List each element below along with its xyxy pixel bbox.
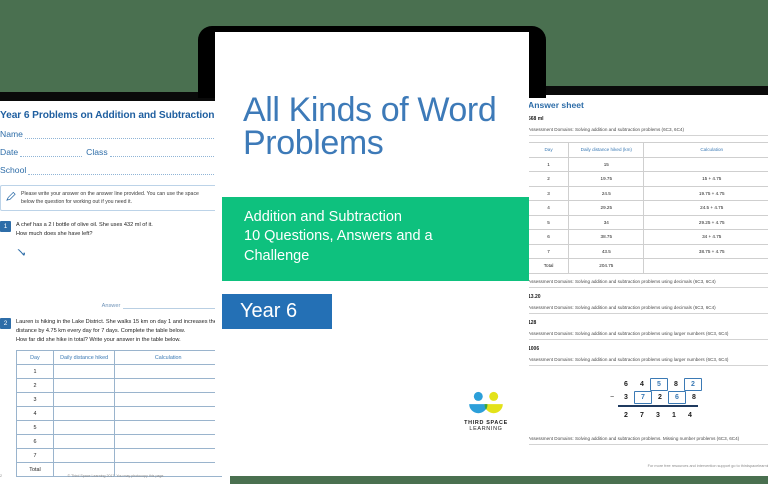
answer-write-line[interactable] [123, 302, 222, 309]
cover-title: All Kinds of Word Problems [243, 94, 519, 159]
table-row: 115 [529, 157, 768, 172]
cell-distance: 34 [569, 215, 644, 230]
tick-icon: ✓ [15, 245, 28, 262]
table-header-row: Day Daily distance hiked Calculation [17, 351, 222, 365]
cover-title-line1: All Kinds of Word [243, 94, 519, 127]
row-calculation-input[interactable] [115, 379, 222, 393]
cell-total-distance: 204.75 [569, 259, 644, 274]
row-calculation-input[interactable] [115, 435, 222, 449]
two-people-logo-icon [465, 390, 507, 414]
school-field-label: School [0, 165, 26, 175]
cover-subtitle-line3: Challenge [244, 247, 521, 266]
worksheet-top-bar [0, 92, 230, 101]
cell-distance: 24.5 [569, 186, 644, 201]
subtrahend-digit-5: 8 [686, 394, 702, 401]
row-distance-input[interactable] [53, 449, 115, 463]
row-day: 5 [17, 421, 54, 435]
date-class-field-row: Date Class [0, 147, 222, 157]
minuend-digit-5-boxed: 2 [684, 378, 702, 391]
header-calculation: Calculation [115, 351, 222, 365]
question-2-number: 2 [0, 318, 11, 329]
cell-day: 1 [529, 157, 569, 172]
cell-calculation: 24.5 + 4.75 [644, 201, 768, 216]
cell-calculation: 15 + 4.75 [644, 172, 768, 187]
question-1-answer-line[interactable]: Answer [0, 302, 222, 309]
divider [528, 287, 768, 288]
school-field-row: School [0, 165, 222, 175]
question-1-number: 1 [0, 221, 11, 232]
cover-document: All Kinds of Word Problems Addition and … [215, 32, 529, 476]
class-field-line[interactable] [110, 148, 222, 157]
cell-distance: 43.5 [569, 244, 644, 259]
question-2: 2 Lauren is hiking in the Lake District.… [0, 318, 222, 344]
minuend-row: 6 4 5 8 2 [606, 378, 702, 391]
third-space-learning-logo: THIRD SPACE LEARNING [450, 390, 522, 432]
result-digit-4: 1 [666, 412, 682, 419]
table-row: 2 [17, 379, 222, 393]
table-row: 6 [17, 435, 222, 449]
cell-day: 5 [529, 215, 569, 230]
assessment-domain-2: Assessment Domains: Solving addition and… [528, 279, 768, 284]
subtrahend-row: − 3 7 2 6 8 [606, 391, 702, 404]
name-field-row: Name [0, 129, 222, 139]
cell-distance: 15 [569, 157, 644, 172]
cover-title-line2: Problems [243, 127, 519, 160]
instruction-note-line1: Please write your answer on the answer l… [21, 190, 217, 198]
table-row: 638.7534 + 4.75 [529, 230, 768, 245]
date-field-label: Date [0, 147, 18, 157]
cell-calculation: 19.75 + 4.75 [644, 186, 768, 201]
table-row: 7 [17, 449, 222, 463]
name-field-label: Name [0, 129, 23, 139]
worksheet-title: Year 6 Problems on Addition and Subtract… [0, 110, 222, 121]
divider [528, 135, 768, 136]
assessment-domain-3: Assessment Domains: Solving addition and… [528, 305, 768, 310]
row-day: 1 [17, 365, 54, 379]
answer-hike-table: Day Daily distance hiked (km) Calculatio… [528, 142, 768, 274]
assessment-domain-4: Assessment Domains: Solving addition and… [528, 331, 768, 336]
logo-text-line2: LEARNING [450, 426, 522, 432]
answer-sheet-title: Answer sheet [528, 100, 768, 110]
row-calculation-input[interactable] [115, 407, 222, 421]
minuend-digit-2: 4 [634, 381, 650, 388]
worksheet-hike-table: Day Daily distance hiked Calculation 1 2… [16, 350, 222, 477]
worksheet-document: Year 6 Problems on Addition and Subtract… [0, 92, 230, 484]
cover-subtitle-band: Addition and Subtraction 10 Questions, A… [222, 197, 529, 281]
table-row: Total204.75 [529, 259, 768, 274]
table-row: 429.2524.5 + 4.75 [529, 201, 768, 216]
school-field-line[interactable] [28, 166, 222, 175]
answer-4-value: 1006 [528, 346, 768, 352]
cell-total-calculation [644, 259, 768, 274]
cell-calculation: 34 + 4.75 [644, 230, 768, 245]
row-distance-input[interactable] [53, 407, 115, 421]
sum-rule [618, 405, 698, 407]
column-subtraction: 6 4 5 8 2 − 3 7 2 6 8 [528, 378, 768, 422]
year-badge: Year 6 [222, 294, 332, 329]
question-1-line2: How much does she have left? [16, 230, 153, 239]
answer-sheet-top-bar [528, 86, 768, 95]
row-calculation-input[interactable] [115, 393, 222, 407]
table-row: 1 [17, 365, 222, 379]
row-distance-input[interactable] [53, 379, 115, 393]
answer-2-value: 13.20 [528, 294, 768, 300]
cell-distance: 19.75 [569, 172, 644, 187]
cell-day: 6 [529, 230, 569, 245]
row-day: 4 [17, 407, 54, 421]
cell-total-label: Total [529, 259, 569, 274]
cell-calculation: 29.25 + 4.75 [644, 215, 768, 230]
row-calculation-input[interactable] [115, 365, 222, 379]
answer-3-value: 128 [528, 320, 768, 326]
question-2-line1: Lauren is hiking in the Lake District. S… [16, 318, 217, 327]
row-calculation-input[interactable] [115, 421, 222, 435]
divider [528, 444, 768, 445]
divider [528, 313, 768, 314]
cell-calculation [644, 157, 768, 172]
subtrahend-digit-3: 2 [652, 394, 668, 401]
table-row: 3 [17, 393, 222, 407]
name-field-line[interactable] [25, 130, 222, 139]
table-row: 53429.25 + 4.75 [529, 215, 768, 230]
question-1: 1 A chef has a 2 l bottle of olive oil. … [0, 221, 222, 238]
table-row: 4 [17, 407, 222, 421]
row-day: 7 [17, 449, 54, 463]
row-calculation-input[interactable] [115, 449, 222, 463]
divider [528, 339, 768, 340]
result-digit-3: 3 [650, 412, 666, 419]
table-row: 5 [17, 421, 222, 435]
subtrahend-digit-1: 3 [618, 394, 634, 401]
minuend-digit-3-boxed: 5 [650, 378, 668, 391]
cover-subtitle-line1: Addition and Subtraction [244, 208, 521, 227]
header-day: Day [17, 351, 54, 365]
instruction-note-line2: below the question for working out if yo… [21, 198, 217, 206]
result-digit-1: 2 [618, 412, 634, 419]
cell-day: 4 [529, 201, 569, 216]
divider [528, 365, 768, 366]
date-field-line[interactable] [20, 148, 82, 157]
worksheet-page-number: 2 [0, 474, 10, 478]
minuend-digit-1: 6 [618, 381, 634, 388]
screenshot-stage: Year 6 Problems on Addition and Subtract… [0, 0, 768, 476]
cell-calculation: 38.75 + 4.75 [644, 244, 768, 259]
cell-day: 2 [529, 172, 569, 187]
class-field-label: Class [86, 147, 108, 157]
table-row: 219.7515 + 4.75 [529, 172, 768, 187]
result-digit-5: 4 [682, 412, 698, 419]
worksheet-copyright: © Third Space Learning 2017. You may pho… [10, 474, 222, 478]
answer-label: Answer [102, 303, 121, 309]
answer-1-value: 568 ml [528, 116, 768, 122]
header-day: Day [529, 143, 569, 158]
row-distance-input[interactable] [53, 421, 115, 435]
cover-subtitle-line2: 10 Questions, Answers and a [244, 227, 521, 246]
row-distance-input[interactable] [53, 365, 115, 379]
table-row: 743.538.75 + 4.75 [529, 244, 768, 259]
table-row: 324.519.75 + 4.75 [529, 186, 768, 201]
subtrahend-digit-2-boxed: 7 [634, 391, 652, 404]
result-row: 2 7 3 1 4 [606, 409, 702, 422]
cell-distance: 38.75 [569, 230, 644, 245]
subtrahend-digit-4-boxed: 6 [668, 391, 686, 404]
minus-operator: − [606, 394, 618, 401]
question-2-line2: distance by 4.75 km every day for 7 days… [16, 327, 217, 336]
result-digit-2: 7 [634, 412, 650, 419]
year-badge-label: Year 6 [240, 300, 297, 323]
cover-subtitle: Addition and Subtraction 10 Questions, A… [244, 208, 521, 266]
assessment-domain-1: Assessment Domains: Solving addition and… [528, 127, 768, 132]
cell-day: 3 [529, 186, 569, 201]
minuend-digit-4: 8 [668, 381, 684, 388]
row-day: 3 [17, 393, 54, 407]
row-distance-input[interactable] [53, 393, 115, 407]
table-header-row: Day Daily distance hiked (km) Calculatio… [529, 143, 768, 158]
cell-day: 7 [529, 244, 569, 259]
row-day: 6 [17, 435, 54, 449]
answer-sheet-footer: For more free resources and intervention… [648, 464, 768, 468]
question-2-line3: How far did she hike in total? Write you… [16, 336, 217, 345]
instruction-note: Please write your answer on the answer l… [0, 185, 222, 211]
worksheet-footer: 2 © Third Space Learning 2017. You may p… [0, 474, 222, 478]
question-1-line1: A chef has a 2 l bottle of olive oil. Sh… [16, 221, 153, 230]
pencil-icon [5, 191, 17, 202]
row-day: 2 [17, 379, 54, 393]
header-distance: Daily distance hiked (km) [569, 143, 644, 158]
row-distance-input[interactable] [53, 435, 115, 449]
cell-distance: 29.25 [569, 201, 644, 216]
header-distance: Daily distance hiked [53, 351, 115, 365]
header-calculation: Calculation [644, 143, 768, 158]
assessment-domain-5: Assessment Domains: Solving addition and… [528, 357, 768, 362]
assessment-domain-6: Assessment Domains: Solving addition and… [528, 436, 768, 441]
answer-sheet-document: Answer sheet 568 ml Assessment Domains: … [528, 86, 768, 476]
